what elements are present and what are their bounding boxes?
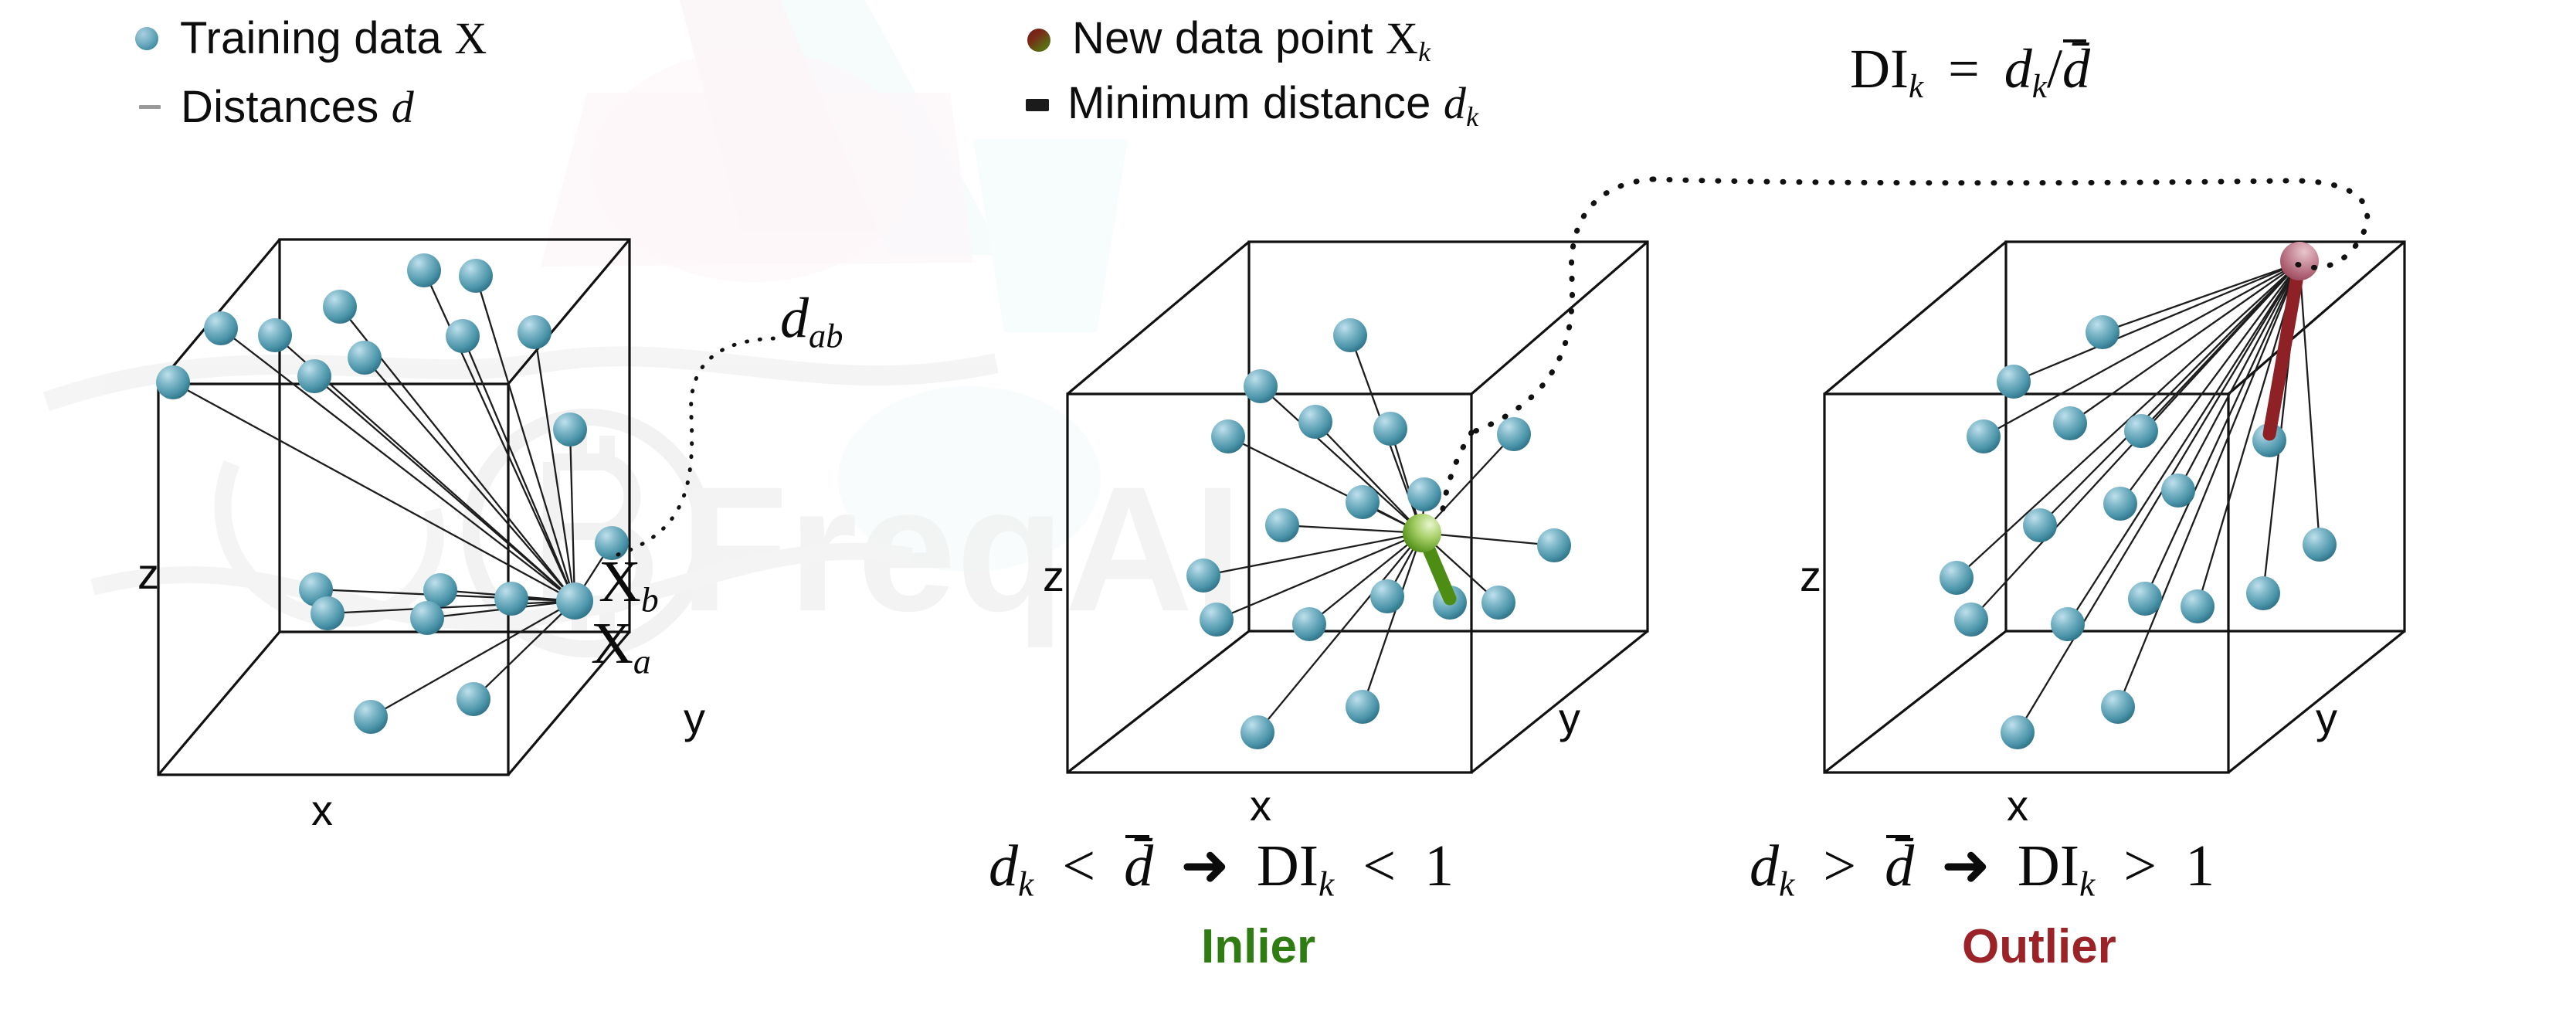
axis-label-z-panel1: z [137,548,159,599]
verdict-inlier: Inlier [1201,919,1315,974]
svg-text:FreqAI: FreqAI [680,450,1242,648]
black-dash-marker-icon [1026,99,1049,111]
axis-label-y-panel3: y [2316,693,2337,743]
axis-label-x-panel3: x [2007,780,2028,830]
dk-leader-line-left [1471,179,1653,433]
legend-item-distances[interactable]: Distances d [139,81,414,133]
dk-leader-line [1653,179,2367,267]
label-Xa: Xa [591,610,651,682]
legend-label-new-data-point: New data point Xk [1072,12,1431,68]
legend-item-minimum-distance[interactable]: Minimum distance dk [1026,77,1478,133]
distance-lines [1957,263,2320,732]
dab-label: dab [780,286,843,355]
legend-label-minimum-distance: Minimum distance dk [1067,77,1478,133]
figure-canvas: FreqAI [0,0,2576,1022]
axis-label-x-panel2: x [1250,780,1271,830]
axis-label-x-panel1: x [311,785,333,835]
legend-label-distances: Distances d [181,81,414,133]
axis-label-y-panel1: y [684,693,705,743]
di-formula: DIk = dk/d̄ [1850,37,2090,106]
blue-sphere-marker-icon [135,27,158,50]
point-Xa [556,582,593,620]
legend-item-training-data[interactable]: Training data X [135,12,487,64]
caption-formula-inlier: dk < d̄ ➜ DIk < 1 [989,830,1454,905]
dark-red-sphere-marker-icon [1027,29,1050,52]
axis-label-y-panel2: y [1559,693,1580,743]
caption-formula-outlier: dk > d̄ ➜ DIk > 1 [1750,830,2215,905]
legend-item-new-data-point[interactable]: New data point Xk [1027,12,1431,68]
training-points [1186,318,1571,749]
legend-label-training-data: Training data X [180,12,487,64]
gray-dash-marker-icon [139,105,161,109]
new-data-point-outlier [2280,242,2319,280]
label-Xb: Xb [599,548,659,620]
new-data-point-inlier [1403,514,1441,552]
axis-label-z-panel2: z [1043,551,1064,601]
verdict-outlier: Outlier [1962,919,2116,974]
axis-label-z-panel3: z [1800,551,1821,601]
